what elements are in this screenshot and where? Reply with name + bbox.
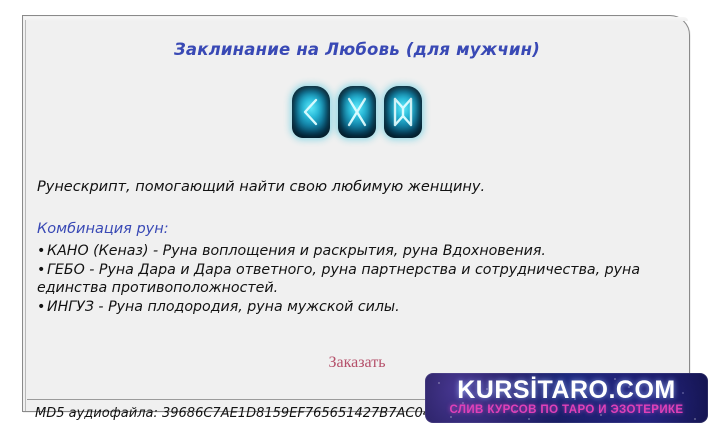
- bullet-marker: •: [37, 298, 47, 317]
- md5-checksum-text: MD5 аудиофайла: 39686C7AE1D8159EF7656514…: [35, 406, 431, 421]
- page-title: Заклинание на Любовь (для мужчин): [23, 40, 691, 59]
- kano-rune: [292, 86, 330, 138]
- inguz-rune: [384, 86, 422, 138]
- list-item-text: ИНГУЗ - Руна плодородия, руна мужской си…: [47, 299, 400, 315]
- list-item: •КАНО (Кеназ) - Руна воплощения и раскры…: [37, 242, 682, 261]
- banner-site-name: KURSİTARO.COM: [425, 376, 708, 405]
- bullet-marker: •: [37, 242, 47, 261]
- card-left-rule: [25, 20, 26, 411]
- rune-spell-card: Заклинание на Любовь (для мужчин): [22, 15, 690, 412]
- kursitaro-watermark-banner: KURSİTARO.COM СЛИВ КУРСОВ ПО ТАРО И ЭЗОТ…: [425, 373, 708, 423]
- rune-row: [23, 86, 691, 138]
- list-item-text: КАНО (Кеназ) - Руна воплощения и раскрыт…: [47, 243, 546, 259]
- list-item: •ИНГУЗ - Руна плодородия, руна мужской с…: [37, 298, 682, 317]
- banner-tagline: СЛИВ КУРСОВ ПО ТАРО И ЭЗОТЕРИКЕ: [425, 404, 708, 416]
- rune-meaning-list: •КАНО (Кеназ) - Руна воплощения и раскры…: [37, 242, 682, 316]
- list-item-text: ГЕБО - Руна Дара и Дара ответного, руна …: [37, 262, 640, 297]
- gebo-rune: [338, 86, 376, 138]
- order-button[interactable]: Заказать: [328, 354, 385, 371]
- list-item: •ГЕБО - Руна Дара и Дара ответного, руна…: [37, 261, 682, 298]
- screenshot-root: Заклинание на Любовь (для мужчин): [0, 0, 711, 427]
- order-link-container: Заказать: [23, 354, 691, 372]
- rune-combination-heading: Комбинация рун:: [37, 221, 169, 237]
- bullet-marker: •: [37, 261, 47, 280]
- lead-description: Рунескрипт, помогающий найти свою любиму…: [37, 179, 677, 195]
